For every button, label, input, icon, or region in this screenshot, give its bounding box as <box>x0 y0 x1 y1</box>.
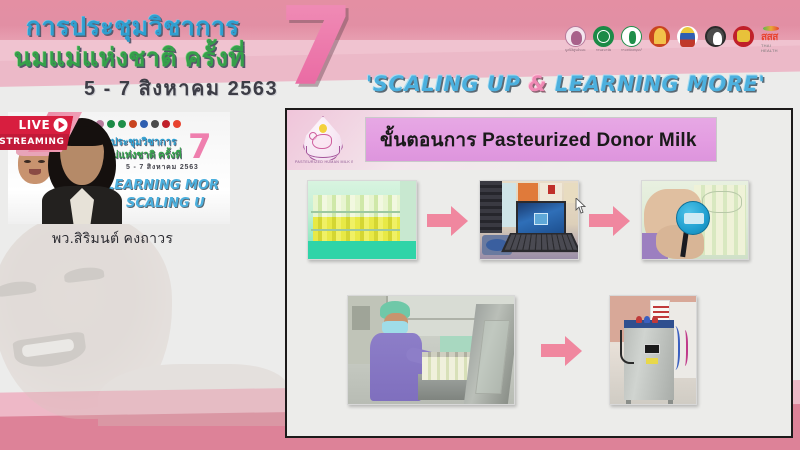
mouse-cursor <box>575 198 586 214</box>
hand-holding-timer-photo <box>641 180 749 260</box>
thaihealth-sublabel: THAI HEALTH <box>761 43 787 53</box>
speaker-name: พว.สิริมนต์ คงถาวร <box>52 228 173 250</box>
royal-emblem-logo <box>649 26 670 54</box>
thumbnail-logo-4 <box>129 120 137 128</box>
play-icon <box>54 118 68 132</box>
process-row-1 <box>307 180 749 260</box>
logo-caption: PASTEURIZED HUMAN MILK BANK <box>295 160 353 164</box>
step-arrow-4-to-5 <box>541 335 583 365</box>
step-arrow-2-to-3 <box>589 205 631 235</box>
red-seal-logo <box>733 26 754 54</box>
thumbnail-logo-7 <box>162 120 170 128</box>
thumbnail-logo-6 <box>151 120 159 128</box>
conference-tagline: 'SCALING UP & LEARNING MORE' <box>366 72 765 96</box>
process-row-2 <box>347 295 697 405</box>
sponsor-caption: มูลนิธิศูนย์นมแม่แห่งประเทศไทย <box>565 48 586 52</box>
thumbnail-tagline-line2: SCALING U <box>126 196 205 211</box>
sponsor-caption: กรมสนับสนุนบริการสุขภาพ <box>621 48 642 52</box>
thai-breastfeeding-foundation-logo: มูลนิธิศูนย์นมแม่แห่งประเทศไทย <box>565 26 586 54</box>
step-arrow-1-to-2 <box>427 205 469 235</box>
nurse-loading-bottles-photo <box>347 295 515 405</box>
thumbnail-tagline-line1: LEARNING MOR <box>106 178 219 193</box>
department-of-health-logo: กรมสนับสนุนบริการสุขภาพ <box>621 26 642 54</box>
thumbnail-logo-8 <box>173 120 181 128</box>
thumbnail-date: 5 - 7 สิงหาคม 2563 <box>126 162 199 173</box>
slide-panel[interactable]: PASTEURIZED HUMAN MILK BANK ขั้นตอนการ P… <box>285 108 793 438</box>
sponsor-caption: กรมอนามัย <box>593 48 614 52</box>
slide-title-banner: ขั้นตอนการ Pasteurized Donor Milk <box>365 117 717 162</box>
national-emblem-logo <box>677 26 698 54</box>
streaming-label: STREAMING <box>0 137 64 147</box>
live-streaming-badge: LIVE STREAMING <box>0 116 73 150</box>
slide-title: ขั้นตอนการ Pasteurized Donor Milk <box>380 125 697 155</box>
conference-date: 5 - 7 สิงหาคม 2563 <box>84 72 278 104</box>
tagline-part2: LEARNING MORE' <box>547 72 765 96</box>
tagline-part1: 'SCALING UP <box>366 72 528 96</box>
thaihealth-logo: สสส THAI HEALTH <box>761 26 787 54</box>
thumbnail-logo-5 <box>140 120 148 128</box>
live-label: LIVE <box>19 118 51 132</box>
sponsor-logo-strip: มูลนิธิศูนย์นมแม่แห่งประเทศไทย กรมอนามัย… <box>565 26 787 54</box>
tagline-ampersand: & <box>528 72 547 96</box>
ministry-of-public-health-logo: กรมอนามัย <box>593 26 614 54</box>
presentation-screen: การประชุมวิชาการ นมแม่แห่งชาติ ครั้งที่ … <box>0 0 800 450</box>
edition-number: 7 <box>279 0 354 102</box>
laptop-workstation-photo <box>479 180 579 260</box>
pasteurizer-machine-photo <box>609 295 697 405</box>
thumbnail-edition-number: 7 <box>188 130 212 164</box>
milk-bottle-rack-photo <box>307 180 417 260</box>
pasteurized-human-milk-bank-logo: PASTEURIZED HUMAN MILK BANK <box>295 115 353 173</box>
university-seal-logo <box>705 26 726 54</box>
